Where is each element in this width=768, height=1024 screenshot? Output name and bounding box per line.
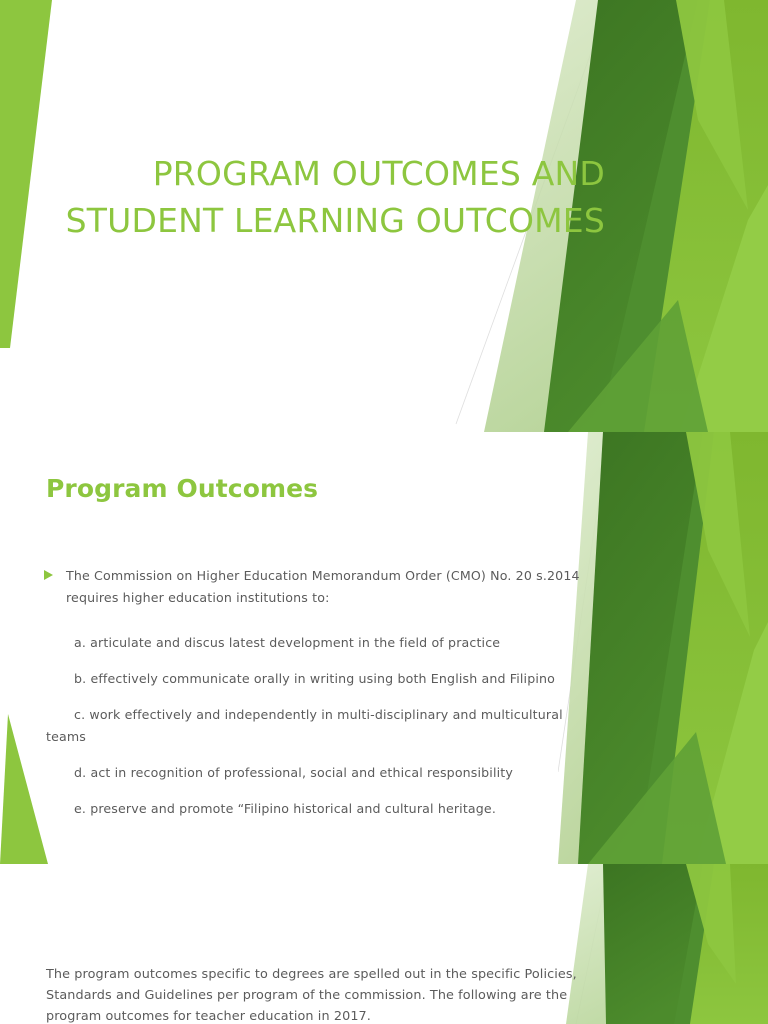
page-title: PROGRAM OUTCOMES AND STUDENT LEARNING OU… bbox=[40, 150, 605, 244]
list-item: e. preserve and promote “Filipino histor… bbox=[46, 798, 591, 820]
slide-2-bullet-text: The Commission on Higher Education Memor… bbox=[66, 565, 589, 609]
list-item: c. work effectively and independently in… bbox=[46, 704, 591, 748]
title-line-1: PROGRAM OUTCOMES AND bbox=[153, 154, 605, 193]
list-item: d. act in recognition of professional, s… bbox=[46, 762, 591, 784]
slide-2-lettered-list: a. articulate and discus latest developm… bbox=[46, 632, 591, 820]
list-item: a. articulate and discus latest developm… bbox=[46, 632, 591, 654]
triangle-bullet-icon bbox=[44, 570, 53, 580]
list-item: b. effectively communicate orally in wri… bbox=[46, 668, 591, 690]
slide-2-heading: Program Outcomes bbox=[46, 474, 318, 503]
slide-3-paragraph: The program outcomes specific to degrees… bbox=[46, 964, 581, 1024]
slide-2[interactable]: Program Outcomes The Commission on Highe… bbox=[0, 432, 768, 864]
slide-1-title-block: PROGRAM OUTCOMES AND STUDENT LEARNING OU… bbox=[40, 150, 605, 244]
slide-3-right-polygon-graphic bbox=[558, 864, 768, 1024]
slide-2-bottom-left-accent-triangle bbox=[0, 714, 52, 864]
slide-1[interactable]: PROGRAM OUTCOMES AND STUDENT LEARNING OU… bbox=[0, 0, 768, 432]
title-line-2: STUDENT LEARNING OUTCOMES bbox=[66, 201, 605, 240]
slide-deck: PROGRAM OUTCOMES AND STUDENT LEARNING OU… bbox=[0, 0, 768, 1024]
slide-3[interactable]: The program outcomes specific to degrees… bbox=[0, 864, 768, 1024]
slide-2-bullet: The Commission on Higher Education Memor… bbox=[44, 565, 589, 609]
